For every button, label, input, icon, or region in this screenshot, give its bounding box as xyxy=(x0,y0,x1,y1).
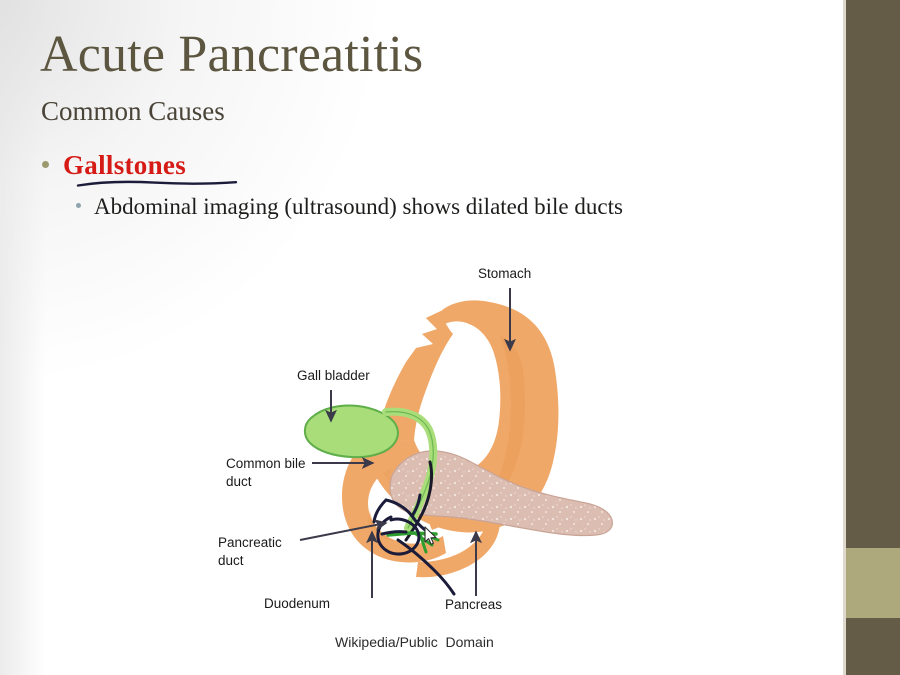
bullet-label-abdominal-imaging: Abdominal imaging (ultrasound) shows dil… xyxy=(94,194,623,220)
gallstones-handdrawn-underline xyxy=(76,178,238,188)
bullet-item-gallstones: Gallstones xyxy=(42,150,186,181)
label-gall-bladder: Gall bladder xyxy=(297,368,370,383)
image-credit: Wikipedia/Public Domain xyxy=(335,634,494,650)
slide-title: Acute Pancreatitis xyxy=(40,28,423,83)
slide-subtitle: Common Causes xyxy=(41,96,225,127)
bullet-item-abdominal-imaging: Abdominal imaging (ultrasound) shows dil… xyxy=(76,194,623,220)
slide-canvas: Acute Pancreatitis Common Causes Gallsto… xyxy=(0,0,900,675)
label-stomach: Stomach xyxy=(478,266,531,281)
band-block-khaki xyxy=(846,548,900,618)
label-common-bile-duct-line2: duct xyxy=(226,474,252,489)
bullet-dot-level1 xyxy=(42,161,49,168)
anatomy-diagram-svg: Stomach Gall bladder Common bile duct Pa… xyxy=(200,240,630,660)
anatomy-figure: Stomach Gall bladder Common bile duct Pa… xyxy=(200,240,630,660)
label-common-bile-duct-line1: Common bile xyxy=(226,456,306,471)
label-duodenum: Duodenum xyxy=(264,596,330,611)
label-pancreatic-duct-line1: Pancreatic xyxy=(218,535,282,550)
bullet-label-gallstones: Gallstones xyxy=(63,150,186,181)
bullet-dot-level2 xyxy=(76,203,81,208)
band-block-dark-bottom xyxy=(846,618,900,675)
label-pancreas: Pancreas xyxy=(445,597,502,612)
label-pancreatic-duct-line2: duct xyxy=(218,553,244,568)
right-decorative-band xyxy=(843,0,900,675)
band-block-dark-top xyxy=(846,0,900,548)
